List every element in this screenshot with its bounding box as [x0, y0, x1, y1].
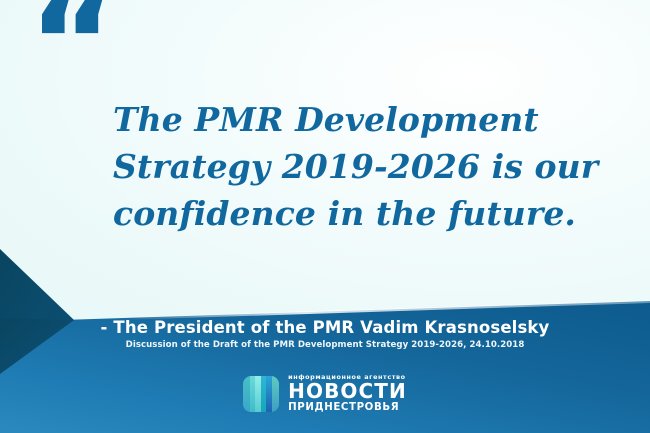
- quote-line-2: Strategy 2019-2026 is our: [113, 147, 598, 186]
- quote-card: “ The PMR Development Strategy 2019-2026…: [0, 0, 650, 433]
- logo-subtitle: ПРИДНЕСТРОВЬЯ: [288, 402, 399, 414]
- logo-wordmark: информационное агентство НОВОСТИ ПРИДНЕС…: [288, 374, 407, 414]
- quote-mark-icon: “: [28, 0, 115, 112]
- quote-line-3: confidence in the future.: [113, 194, 576, 233]
- quote-line-1: The PMR Development: [113, 100, 539, 139]
- agency-logo: информационное агентство НОВОСТИ ПРИДНЕС…: [0, 374, 650, 414]
- band-hairline: [120, 300, 650, 320]
- attribution-name: - The President of the PMR Vadim Krasnos…: [0, 318, 650, 338]
- quote-text: The PMR Development Strategy 2019-2026 i…: [113, 96, 633, 237]
- navy-wedge: [0, 249, 74, 373]
- attribution: - The President of the PMR Vadim Krasnos…: [0, 318, 650, 351]
- attribution-source: Discussion of the Draft of the PMR Devel…: [0, 340, 650, 351]
- logo-mark-icon: [243, 376, 279, 412]
- logo-title: НОВОСТИ: [288, 381, 407, 401]
